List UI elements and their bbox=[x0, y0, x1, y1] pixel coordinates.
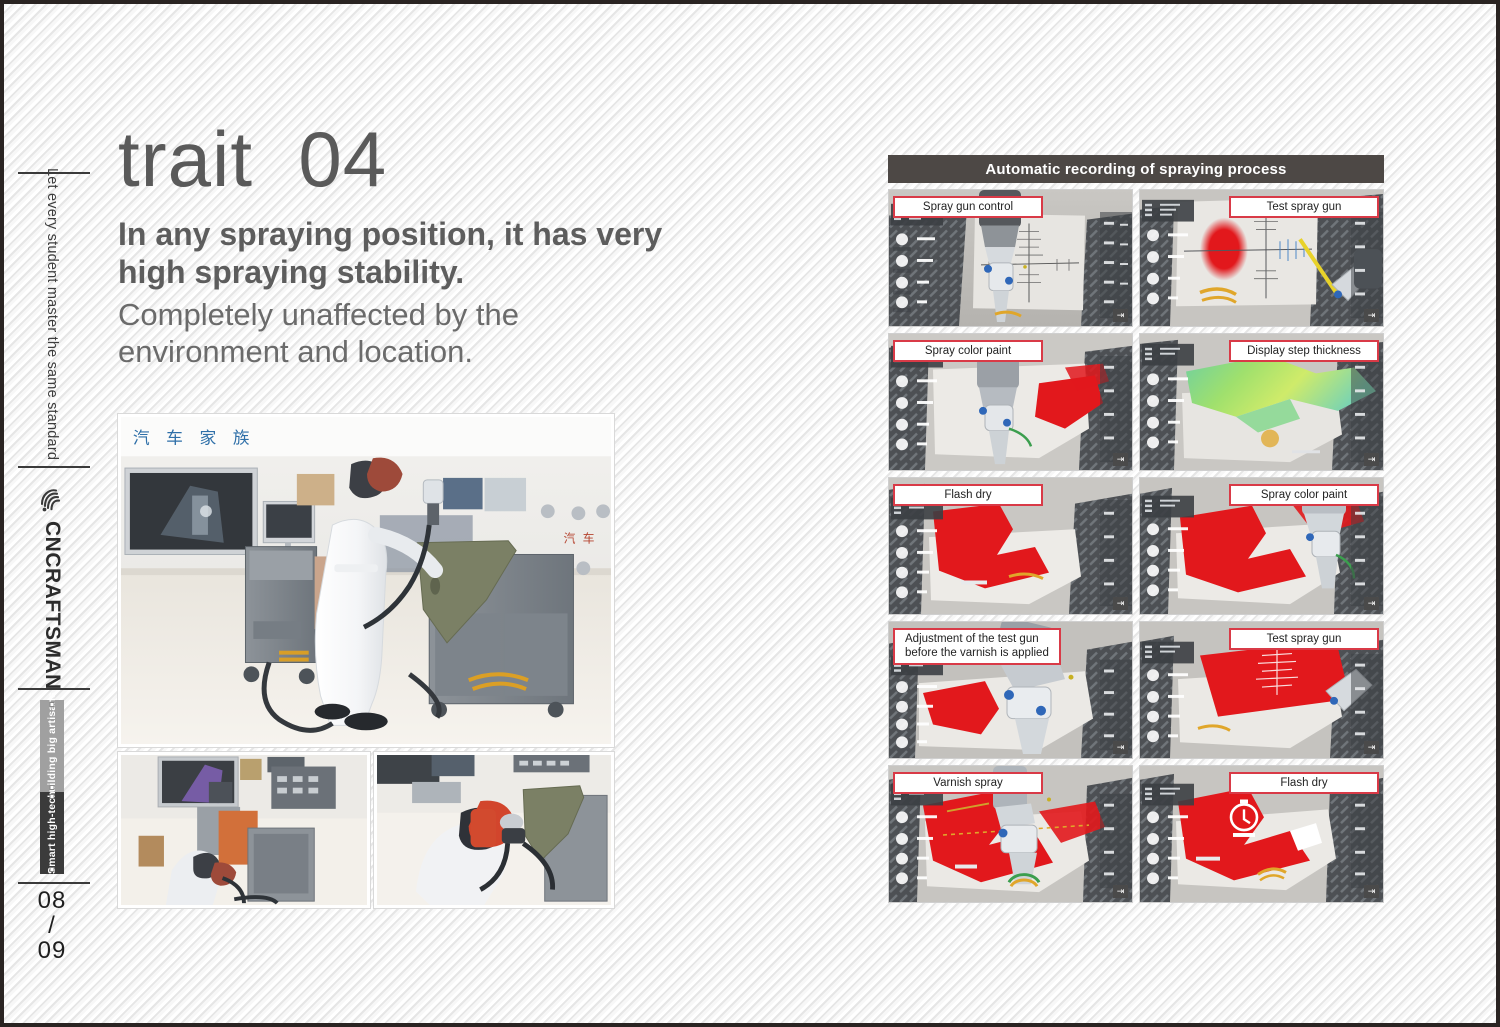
page-number-top: 08 bbox=[4, 888, 100, 913]
exit-icon[interactable]: ⇥ bbox=[1364, 597, 1379, 610]
vr-cell-spray-color-paint-2[interactable]: Spray color paint ⇥ bbox=[1139, 477, 1384, 615]
vr-cell-adjustment-test-gun[interactable]: Adjustment of the test gun before the va… bbox=[888, 621, 1133, 759]
sidebar-divider-2 bbox=[18, 466, 90, 468]
cell-label: Adjustment of the test gun before the va… bbox=[893, 628, 1061, 665]
vr-cell-spray-color-paint-1[interactable]: Spray color paint ⇥ bbox=[888, 333, 1133, 471]
badge-smart-high-tech: Smart high-tech bbox=[40, 792, 64, 874]
vr-hud-right bbox=[1100, 356, 1132, 462]
svg-text:汽 车 家 族: 汽 车 家 族 bbox=[133, 429, 256, 448]
cell-label: Test spray gun bbox=[1229, 628, 1379, 650]
vr-hud-right bbox=[1351, 212, 1383, 318]
vr-cell-flash-dry-2[interactable]: Flash dry ⇥ bbox=[1139, 765, 1384, 903]
vr-hud-right bbox=[1100, 788, 1132, 894]
vr-cell-display-step-thickness[interactable]: Display step thickness ⇥ bbox=[1139, 333, 1384, 471]
cell-label: Display step thickness bbox=[1229, 340, 1379, 362]
exit-icon[interactable]: ⇥ bbox=[1113, 597, 1128, 610]
subheadline-text: Completely unaffected by the environment… bbox=[118, 296, 678, 372]
badge-building-big-artisans: Building big artisans bbox=[40, 700, 64, 792]
spraying-process-panel: Automatic recording of spraying process bbox=[888, 155, 1384, 897]
vr-hud-right bbox=[1100, 644, 1132, 750]
vr-cell-spray-gun-control[interactable]: Spray gun control ⇥ bbox=[888, 189, 1133, 327]
panel-header-title: Automatic recording of spraying process bbox=[888, 155, 1384, 183]
vr-cell-test-spray-gun-2[interactable]: Test spray gun ⇥ bbox=[1139, 621, 1384, 759]
page-number-separator: / bbox=[4, 913, 100, 938]
exit-icon[interactable]: ⇥ bbox=[1364, 453, 1379, 466]
cell-label: Spray color paint bbox=[893, 340, 1043, 362]
exit-icon[interactable]: ⇥ bbox=[1113, 453, 1128, 466]
vr-screenshot-grid: Spray gun control ⇥ bbox=[888, 183, 1384, 903]
vr-hud-right bbox=[1100, 500, 1132, 606]
vr-hud-left bbox=[1140, 190, 1198, 326]
cell-label: Spray gun control bbox=[893, 196, 1043, 218]
vr-cell-flash-dry-1[interactable]: Flash dry ⇥ bbox=[888, 477, 1133, 615]
sidebar-divider-4 bbox=[18, 882, 90, 884]
spray-training-photo-2 bbox=[118, 752, 370, 908]
sidebar-tagline: Let every student master the same standa… bbox=[4, 164, 100, 464]
cell-label: Flash dry bbox=[1229, 772, 1379, 794]
cell-label: Varnish spray bbox=[893, 772, 1043, 794]
exit-icon[interactable]: ⇥ bbox=[1113, 309, 1128, 322]
page-number: 08 / 09 bbox=[4, 888, 100, 964]
exit-icon[interactable]: ⇥ bbox=[1364, 309, 1379, 322]
cell-label: Test spray gun bbox=[1229, 196, 1379, 218]
vr-hud-left bbox=[1140, 766, 1198, 902]
vr-hud-right bbox=[1351, 788, 1383, 894]
vr-hud-left bbox=[1140, 478, 1198, 614]
vr-hud-right bbox=[1351, 644, 1383, 750]
page-number-bottom: 09 bbox=[4, 938, 100, 963]
vr-cell-varnish-spray[interactable]: Varnish spray ⇥ bbox=[888, 765, 1133, 903]
badge-light-text: Building big artisans bbox=[46, 691, 58, 799]
sidebar-badges: Building big artisans Smart high-tech bbox=[4, 694, 100, 879]
exit-icon[interactable]: ⇥ bbox=[1364, 885, 1379, 898]
headline-text: In any spraying position, it has very hi… bbox=[118, 216, 678, 292]
vr-hud-right bbox=[1351, 356, 1383, 462]
page-title: trait 04 bbox=[118, 120, 678, 198]
spray-training-main-photo: 汽 车 家 族 汽 车 bbox=[118, 414, 614, 747]
badge-dark-text: Smart high-tech bbox=[46, 791, 58, 874]
sidebar-tagline-text: Let every student master the same standa… bbox=[44, 168, 60, 460]
spiral-fingerprint-logo-icon bbox=[37, 484, 67, 519]
vr-cell-test-spray-gun[interactable]: Test spray gun ⇥ bbox=[1139, 189, 1384, 327]
exit-icon[interactable]: ⇥ bbox=[1113, 741, 1128, 754]
sidebar-brand-name: CNCRAFTSMAN bbox=[40, 521, 64, 690]
exit-icon[interactable]: ⇥ bbox=[1364, 741, 1379, 754]
cell-label: Flash dry bbox=[893, 484, 1043, 506]
cell-label: Spray color paint bbox=[1229, 484, 1379, 506]
sidebar-brand: CNCRAFTSMAN bbox=[4, 472, 100, 702]
vr-hud-right bbox=[1351, 500, 1383, 606]
exit-icon[interactable]: ⇥ bbox=[1113, 885, 1128, 898]
svg-text:汽 车: 汽 车 bbox=[564, 532, 597, 546]
vr-hud-right bbox=[1100, 212, 1132, 318]
left-sidebar: Let every student master the same standa… bbox=[4, 4, 100, 1023]
vr-hud-left bbox=[1140, 334, 1198, 470]
vr-hud-left bbox=[1140, 622, 1198, 758]
spray-training-photo-3 bbox=[374, 752, 614, 908]
left-content-column: trait 04 In any spraying position, it ha… bbox=[118, 120, 678, 371]
